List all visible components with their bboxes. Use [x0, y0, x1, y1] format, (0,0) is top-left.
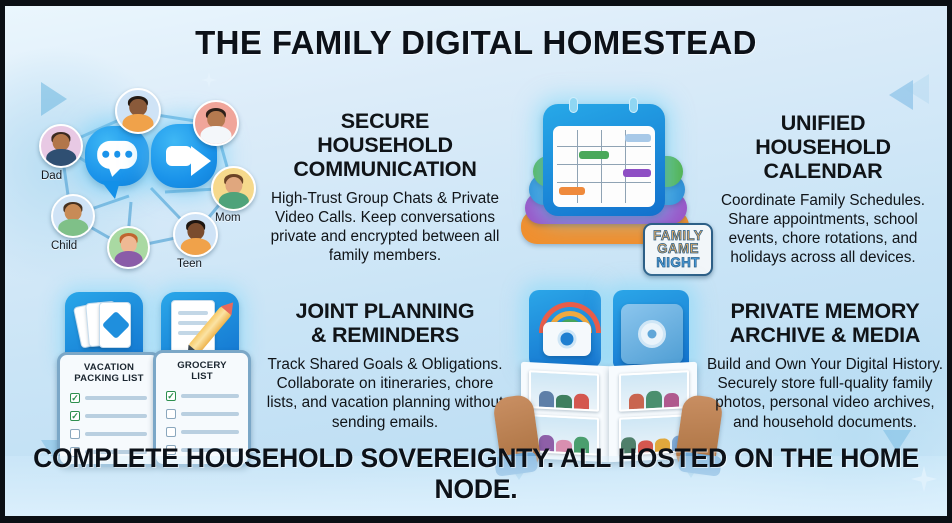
quadrant-text-calendar: UNIFIED HOUSEHOLD CALENDAR Coordinate Fa…	[705, 112, 941, 268]
list-item	[166, 427, 239, 437]
avatar-member	[107, 226, 150, 269]
heading-line: HOUSEHOLD	[705, 136, 941, 160]
photo	[619, 370, 689, 412]
avatar-label-child: Child	[51, 240, 77, 252]
badge-line: NIGHT	[653, 256, 703, 270]
checkbox-unchecked[interactable]	[166, 409, 176, 419]
calendar-event	[625, 134, 651, 142]
heading-line: SECURE	[263, 110, 507, 134]
list-item: ✓	[70, 393, 147, 403]
list-title-line: VACATION	[60, 363, 158, 373]
body-text: High-Trust Group Chats & Private Video C…	[263, 189, 507, 266]
list-title-line: PACKING LIST	[60, 374, 158, 384]
calendar-grid	[553, 126, 655, 207]
safe-vault-icon	[621, 304, 683, 364]
checkbox-checked[interactable]: ✓	[166, 391, 176, 401]
heading-line: ARCHIVE & MEDIA	[705, 324, 945, 348]
list-item	[70, 429, 147, 439]
list-item	[166, 409, 239, 419]
communication-network-graphic: Dad Mom Teen	[19, 84, 269, 279]
calendar-event	[559, 187, 585, 195]
body-text: Build and Own Your Digital History. Secu…	[705, 355, 945, 432]
calendar-graphic: FAMILY GAME NIGHT	[517, 94, 707, 284]
page-title: THE FAMILY DIGITAL HOMESTEAD	[5, 24, 947, 62]
list-title-line: LIST	[156, 372, 248, 382]
badge-line: FAMILY	[653, 229, 703, 243]
checkbox-checked[interactable]: ✓	[70, 393, 80, 403]
list-item: ✓	[70, 411, 147, 421]
avatar-label-mom: Mom	[215, 212, 241, 224]
checkbox-checked[interactable]: ✓	[70, 411, 80, 421]
calendar-event	[579, 151, 609, 159]
body-text: Coordinate Family Schedules. Share appoi…	[705, 191, 941, 268]
list-item: ✓	[166, 391, 239, 401]
chat-bubble-icon	[85, 126, 149, 186]
family-game-night-badge: FAMILY GAME NIGHT	[643, 223, 713, 277]
quadrant-text-memory-archive: PRIVATE MEMORY ARCHIVE & MEDIA Build and…	[705, 300, 945, 432]
avatar-member	[193, 100, 239, 146]
avatar-member	[115, 88, 161, 134]
heading-line: & REMINDERS	[263, 324, 507, 348]
heading-line: JOINT PLANNING	[263, 300, 507, 324]
heading-line: PRIVATE MEMORY	[705, 300, 945, 324]
heading-line: UNIFIED	[705, 112, 941, 136]
checkbox-unchecked[interactable]	[70, 429, 80, 439]
camera-icon	[543, 322, 591, 356]
avatar-label-teen: Teen	[177, 258, 202, 270]
body-text: Track Shared Goals & Obligations. Collab…	[263, 355, 507, 432]
checkbox-unchecked[interactable]	[166, 427, 176, 437]
badge-line: GAME	[653, 242, 703, 256]
list-title-line: GROCERY	[156, 361, 248, 371]
quadrant-text-planning: JOINT PLANNING & REMINDERS Track Shared …	[263, 300, 507, 432]
heading-line: CALENDAR	[705, 160, 941, 184]
photo	[529, 370, 599, 412]
avatar-mom	[211, 166, 256, 211]
avatar-dad	[39, 124, 83, 168]
heading-line: HOUSEHOLD	[263, 134, 507, 158]
avatar-label-dad: Dad	[41, 170, 62, 182]
infographic-poster: THE FAMILY DIGITAL HOMESTEAD Da	[0, 0, 952, 523]
calendar-event	[623, 169, 651, 177]
calendar-card-icon	[543, 104, 665, 216]
footer-tagline: COMPLETE HOUSEHOLD SOVEREIGNTY. ALL HOST…	[5, 443, 947, 505]
quadrant-text-communication: SECURE HOUSEHOLD COMMUNICATION High-Trus…	[263, 110, 507, 266]
heading-line: COMMUNICATION	[263, 158, 507, 182]
avatar-teen	[173, 212, 218, 257]
avatar-child	[51, 194, 95, 238]
